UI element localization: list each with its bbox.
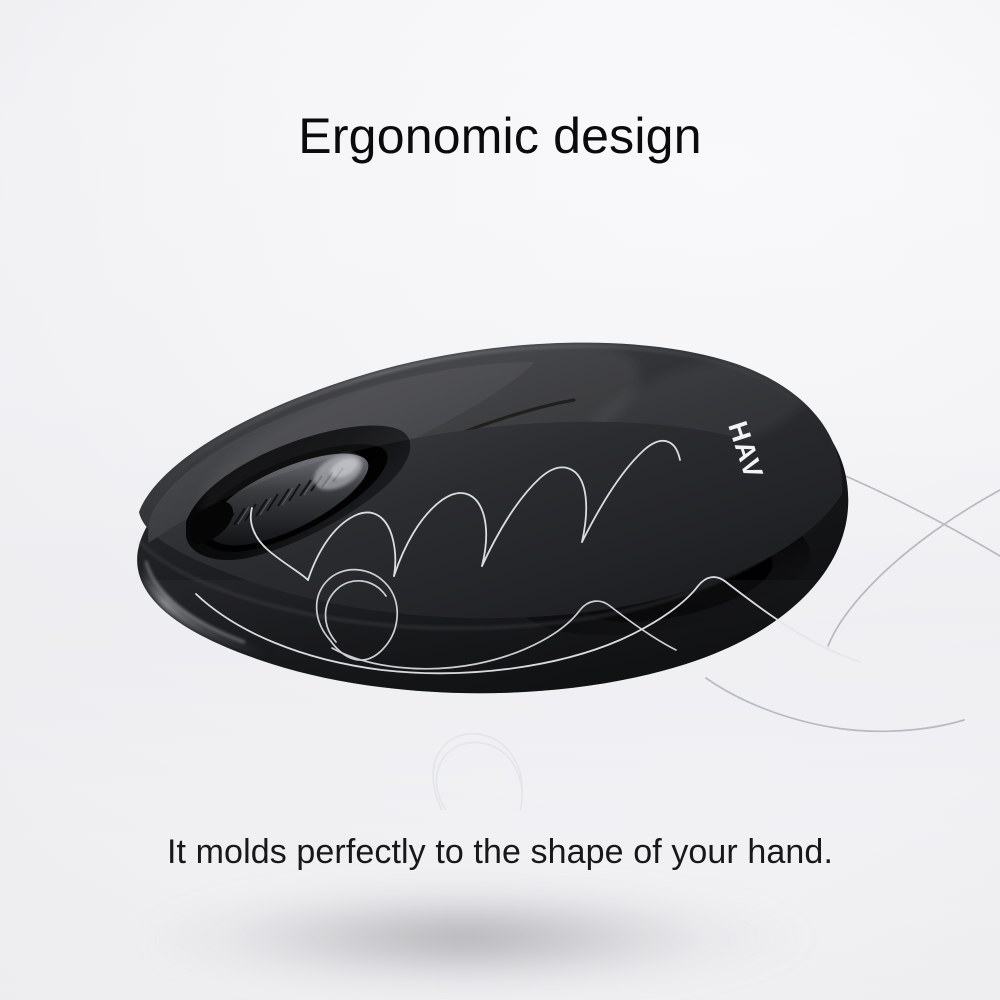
product-photo: HAV — [0, 250, 1000, 810]
page-caption: It molds perfectly to the shape of your … — [0, 832, 1000, 873]
hand-lower-wrist-arc — [706, 678, 964, 731]
contact-shadow — [150, 880, 850, 1000]
hand-wrist-line — [828, 490, 1000, 646]
page-title: Ergonomic design — [0, 108, 1000, 166]
mouse-body: HAV — [130, 302, 860, 720]
mouse-illustration: HAV — [0, 250, 1000, 810]
hand-thumb-outline — [433, 734, 522, 810]
product-feature-image: Ergonomic design — [0, 0, 1000, 1000]
